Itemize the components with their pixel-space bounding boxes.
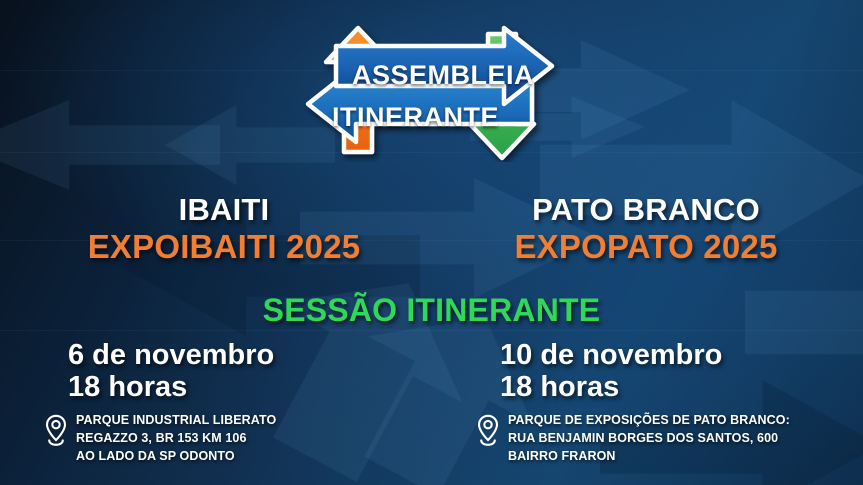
address-lines-ibaiti: PARQUE INDUSTRIAL LIBERATO REGAZZO 3, BR… bbox=[76, 412, 276, 465]
address-block-pato-branco: PARQUE DE EXPOSIÇÕES DE PATO BRANCO: RUA… bbox=[476, 412, 790, 465]
address-line: PARQUE DE EXPOSIÇÕES DE PATO BRANCO: bbox=[508, 412, 790, 430]
address-block-ibaiti: PARQUE INDUSTRIAL LIBERATO REGAZZO 3, BR… bbox=[44, 412, 276, 465]
expo-name-ibaiti: EXPOIBAITI 2025 bbox=[18, 228, 430, 266]
date-time-pato-branco: 10 de novembro 18 horas bbox=[500, 340, 722, 404]
date-time-ibaiti: 6 de novembro 18 horas bbox=[68, 340, 274, 404]
address-line: BAIRRO FRARON bbox=[508, 448, 790, 466]
city-name-pato-branco: PATO BRANCO bbox=[440, 192, 852, 228]
address-line: AO LADO DA SP ODONTO bbox=[76, 448, 276, 466]
address-line: RUA BENJAMIN BORGES DOS SANTOS, 600 bbox=[508, 430, 790, 448]
city-name-ibaiti: IBAITI bbox=[18, 192, 430, 228]
address-lines-pato-branco: PARQUE DE EXPOSIÇÕES DE PATO BRANCO: RUA… bbox=[508, 412, 790, 465]
assembleia-itinerante-logo: ASSEMBLEIA ITINERANTE bbox=[296, 22, 564, 162]
address-line: PARQUE INDUSTRIAL LIBERATO bbox=[76, 412, 276, 430]
expo-name-pato-branco: EXPOPATO 2025 bbox=[440, 228, 852, 266]
date-ibaiti: 6 de novembro bbox=[68, 340, 274, 372]
address-line: REGAZZO 3, BR 153 KM 106 bbox=[76, 430, 276, 448]
map-pin-icon bbox=[476, 414, 500, 453]
time-ibaiti: 18 horas bbox=[68, 372, 274, 404]
map-pin-icon bbox=[44, 414, 68, 453]
time-pato-branco: 18 horas bbox=[500, 372, 722, 404]
assembleia-itinerante-poster: ASSEMBLEIA ITINERANTE IBAITI EXPOIBAITI … bbox=[0, 0, 863, 485]
date-pato-branco: 10 de novembro bbox=[500, 340, 722, 372]
session-label: SESSÃO ITINERANTE bbox=[0, 292, 863, 329]
